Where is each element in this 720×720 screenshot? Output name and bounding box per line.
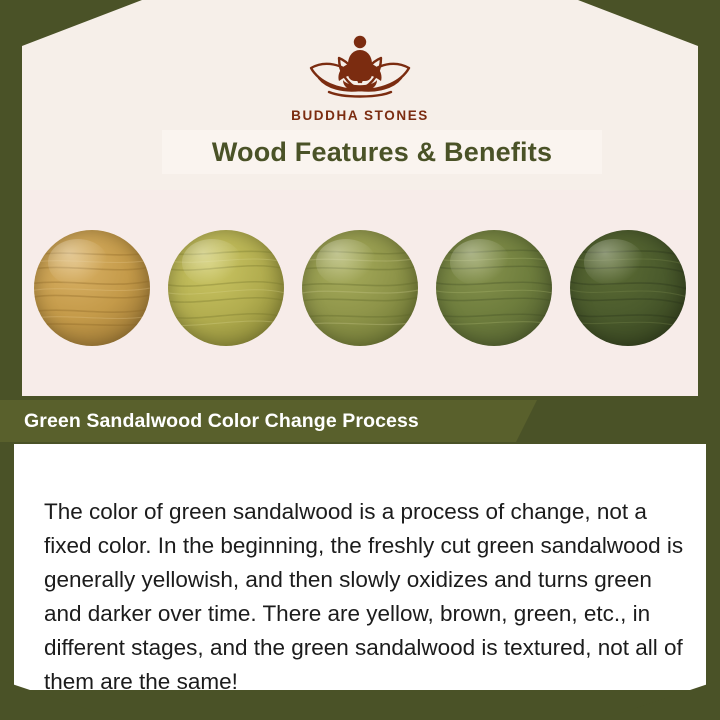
bead-stage-5	[570, 230, 686, 346]
page-title-banner: Wood Features & Benefits	[162, 130, 602, 174]
lotus-buddha-icon	[285, 26, 435, 104]
brand-name: BUDDHA STONES	[22, 108, 698, 123]
section-heading-bar: Green Sandalwood Color Change Process	[0, 400, 516, 442]
description-paragraph: The color of green sandalwood is a proce…	[44, 495, 684, 699]
bead-highlight-4	[450, 239, 510, 285]
bead-highlight-2	[182, 239, 242, 285]
bead-showcase-band	[22, 190, 698, 396]
bead-stage-1	[34, 230, 150, 346]
bead-stage-3	[302, 230, 418, 346]
section-heading-label: Green Sandalwood Color Change Process	[0, 410, 419, 433]
bead-stage-2	[168, 230, 284, 346]
bead-row	[22, 230, 698, 346]
bead-highlight-1	[48, 239, 108, 285]
description-panel: The color of green sandalwood is a proce…	[14, 444, 706, 690]
header-panel: BUDDHA STONES Wood Features & Benefits	[22, 0, 698, 190]
bead-stage-4	[436, 230, 552, 346]
bead-highlight-3	[316, 239, 376, 285]
brand-logo: BUDDHA STONES	[22, 26, 698, 123]
infographic-page: BUDDHA STONES Wood Features & Benefits	[0, 0, 720, 720]
bead-highlight-5	[584, 239, 644, 285]
page-title: Wood Features & Benefits	[212, 137, 552, 168]
